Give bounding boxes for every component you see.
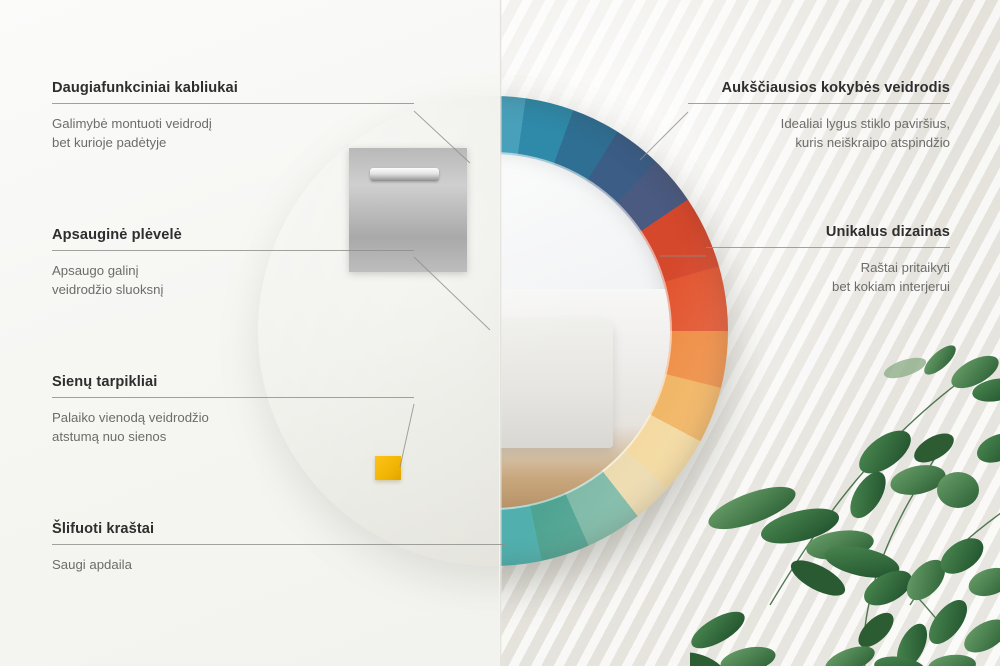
callout-description: Idealiai lygus stiklo paviršius, kuris n… <box>688 115 950 152</box>
callout-description: Galimybė montuoti veidrodį bet kurioje p… <box>52 115 414 152</box>
callout-top-quality-mirror[interactable]: Aukščiausios kokybės veidrodis Idealiai … <box>688 80 950 152</box>
leaves-icon <box>690 330 1000 666</box>
callout-rule <box>52 250 414 251</box>
callout-title: Aukščiausios kokybės veidrodis <box>688 80 950 96</box>
callout-unique-design[interactable]: Unikalus dizainas Raštai pritaikyti bet … <box>706 224 950 296</box>
callout-rule <box>52 397 414 398</box>
spacer-icon <box>375 456 401 480</box>
callout-protective-film[interactable]: Apsauginė plėvelė Apsaugo galinį veidrod… <box>52 227 414 299</box>
callout-wall-spacers[interactable]: Sienų tarpikliai Palaiko vienodą veidrod… <box>52 374 414 446</box>
callout-title: Apsauginė plėvelė <box>52 227 414 243</box>
callout-rule <box>688 103 950 104</box>
mirror-glass <box>500 154 670 508</box>
hook-slot <box>370 168 438 182</box>
callout-multifunction-hooks[interactable]: Daugiafunkciniai kabliukai Galimybė mont… <box>52 80 414 152</box>
callout-title: Unikalus dizainas <box>706 224 950 240</box>
callout-rule <box>52 544 506 545</box>
callout-rule <box>52 103 414 104</box>
foliage-decoration <box>690 330 1000 666</box>
callout-description: Raštai pritaikyti bet kokiam interjerui <box>706 259 950 296</box>
glass-reflection-sheen <box>500 154 670 508</box>
callout-title: Šlifuoti kraštai <box>52 521 506 537</box>
callout-description: Saugi apdaila <box>52 556 506 575</box>
callout-title: Daugiafunkciniai kabliukai <box>52 80 414 96</box>
infographic-canvas: Daugiafunkciniai kabliukai Galimybė mont… <box>0 0 1000 666</box>
callout-rule <box>706 247 950 248</box>
callout-polished-edges[interactable]: Šlifuoti kraštai Saugi apdaila <box>52 521 506 575</box>
callout-title: Sienų tarpikliai <box>52 374 414 390</box>
callout-description: Palaiko vienodą veidrodžio atstumą nuo s… <box>52 409 414 446</box>
callout-description: Apsaugo galinį veidrodžio sluoksnį <box>52 262 414 299</box>
